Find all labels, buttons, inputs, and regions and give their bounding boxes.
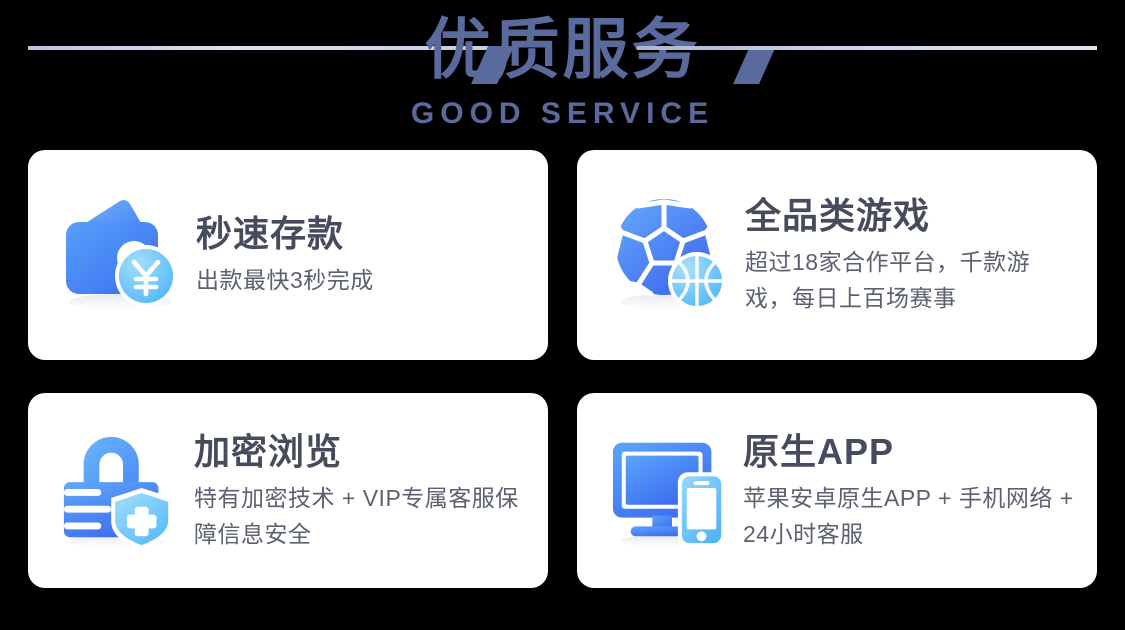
card-title: 秒速存款 [196, 212, 526, 256]
card-title: 全品类游戏 [745, 194, 1075, 238]
card-title: 加密浏览 [194, 430, 526, 474]
soccer-basketball-icon [607, 190, 737, 320]
card-text-games: 全品类游戏 超过18家合作平台，千款游戏，每日上百场赛事 [745, 194, 1075, 316]
service-card-encryption[interactable]: 加密浏览 特有加密技术 + VIP专属客服保障信息安全 [28, 393, 548, 588]
service-card-games[interactable]: 全品类游戏 超过18家合作平台，千款游戏，每日上百场赛事 [577, 150, 1097, 360]
card-text-encryption: 加密浏览 特有加密技术 + VIP专属客服保障信息安全 [194, 430, 526, 552]
header-rule-right [637, 46, 1097, 50]
card-description: 特有加密技术 + VIP专属客服保障信息安全 [194, 480, 526, 552]
card-description: 出款最快3秒完成 [196, 262, 526, 298]
card-title: 原生APP [743, 430, 1075, 474]
service-card-grid: 秒速存款 出款最快3秒完成 [28, 150, 1097, 588]
card-description: 超过18家合作平台，千款游戏，每日上百场赛事 [745, 244, 1075, 316]
service-card-native-app[interactable]: 原生APP 苹果安卓原生APP + 手机网络 + 24小时客服 [577, 393, 1097, 588]
wallet-yen-icon [58, 190, 188, 320]
card-text-deposit: 秒速存款 出款最快3秒完成 [196, 212, 526, 298]
service-card-deposit[interactable]: 秒速存款 出款最快3秒完成 [28, 150, 548, 360]
monitor-phone-icon [607, 429, 735, 553]
card-text-native-app: 原生APP 苹果安卓原生APP + 手机网络 + 24小时客服 [743, 430, 1075, 552]
page-header: 优质服务 GOOD SERVICE [0, 0, 1125, 145]
page-subtitle: GOOD SERVICE [0, 97, 1125, 131]
lock-shield-icon [58, 429, 186, 553]
card-description: 苹果安卓原生APP + 手机网络 + 24小时客服 [743, 480, 1075, 552]
